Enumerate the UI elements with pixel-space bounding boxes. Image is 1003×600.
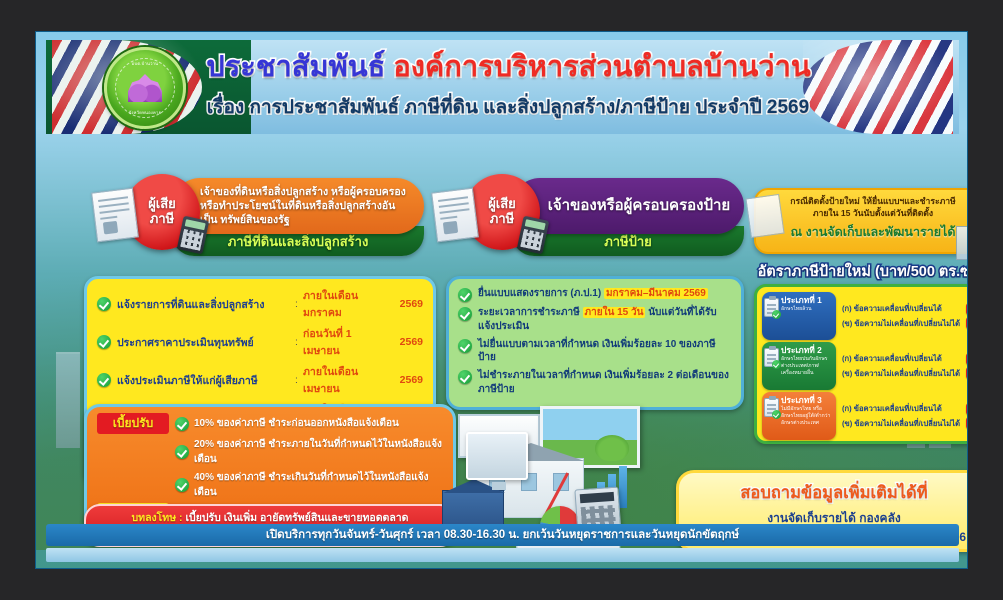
computer-monitor-icon [466,432,528,480]
check-icon [97,297,111,311]
legal-tag: บทลงโทษ : [132,512,183,524]
rate-category-name: ประเภทที่ 2 [781,345,833,355]
taxpayer-land-pill: เจ้าของที่ดินหรือสิ่งปลูกสร้าง หรือผู้คร… [172,178,424,234]
clipboard-check-icon [764,348,779,367]
land-schedule-when: ภายในเดือน มกราคม [303,287,389,321]
penalty-text: 40% ของค่าภาษี ชำระเกินวันที่กำหนดไว้ในห… [194,470,443,500]
new-sign-notice-line1: กรณีติดตั้งป้ายใหม่ ให้ยื่นแบบฯและชำระภา… [764,195,968,207]
rate-category-description: อักษรไทยล้วน [781,306,833,313]
check-icon [175,417,189,431]
sign-rule-row: ไม่ชำระภายในเวลาที่กำหนด เงินเพิ่มร้อยละ… [458,369,732,397]
rate-category: ประเภทที่ 2อักษรไทยปนกับอักษรต่างประเทศ/… [762,342,836,390]
rate-category-name: ประเภทที่ 3 [781,395,833,405]
penalty-text: 20% ของค่าภาษี ชำระภายในวันที่กำหนดไว้ใน… [194,437,443,467]
penalty-tag-spacer [97,451,169,453]
penalty-row: เบี้ยปรับ10% ของค่าภาษี ชำระก่อนออกหนังส… [97,413,443,434]
land-tax-schedule-row: แจ้งรายการที่ดินและสิ่งปลูกสร้าง:ภายในเด… [97,287,423,321]
footer-bottom-strip [46,548,959,562]
sign-rule-highlight: ภายใน 15 วัน [583,307,646,318]
land-schedule-label: แจ้งรายการที่ดินและสิ่งปลูกสร้าง [117,296,295,313]
rate-rows: (ก) ข้อความเคลื่อนที่/เปลี่ยนได้(ข) ข้อค… [836,392,966,440]
land-tax-schedule-row: ประกาศราคาประเมินทุนทรัพย์:ก่อนวันที่ 1 … [97,325,423,359]
sign-rule-row: ไม่ยื่นแบบตามเวลาที่กำหนด เงินเพิ่มร้อยล… [458,338,732,366]
land-schedule-colon: : [295,374,303,386]
rate-row: (ข) ข้อความไม่เคลื่อนที่/เปลี่ยนไม่ได้ [842,368,966,380]
rate-category: ประเภทที่ 3ไม่มีอักษรไทย หรืออักษรไทยอยู… [762,392,836,440]
page-subtitle: เรื่อง การประชาสัมพันธ์ ภาษีที่ดิน และสิ… [172,92,844,122]
rate-values: 105 [966,292,968,340]
rate-row: (ก) ข้อความเคลื่อนที่/เปลี่ยนได้ [842,303,966,315]
title-part2: องค์การบริหารส่วนตำบลบ้านว่าน [393,51,810,83]
land-schedule-year: 2569 [389,336,423,348]
rate-value-badge: 5 [966,317,968,329]
rate-group: ประเภทที่ 1อักษรไทยล้วน(ก) ข้อความเคลื่อ… [762,292,968,340]
sign-rule-text: ยื่นแบบแสดงรายการ (ภ.ป.1) มกราคม–มีนาคม … [478,287,708,301]
penalty-tag-spacer [97,484,169,486]
new-sign-notice-line2: ภายใน 15 วันนับตั้งแต่วันที่ติดตั้ง [764,207,968,219]
rate-group: ประเภทที่ 3ไม่มีอักษรไทย หรืออักษรไทยอยู… [762,392,968,440]
sign-rule-pre: ยื่นแบบแสดงรายการ (ภ.ป.1) [478,288,604,299]
rate-group: ประเภทที่ 2อักษรไทยปนกับอักษรต่างประเทศ/… [762,342,968,390]
title-part1: ประชาสัมพันธ์ [206,51,393,83]
rate-row: (ก) ข้อความเคลื่อนที่/เปลี่ยนได้ [842,403,966,415]
contact-heading: สอบถามข้อมูลเพิ่มเติมได้ที่ [687,480,968,506]
land-schedule-when: ภายในเดือน เมษายน [303,363,389,397]
sign-rule-highlight: มกราคม–มีนาคม 2569 [604,288,708,299]
rate-rows: (ก) ข้อความเคลื่อนที่/เปลี่ยนได้(ข) ข้อค… [836,292,966,340]
rate-row-text: (ข) ข้อความไม่เคลื่อนที่/เปลี่ยนไม่ได้ [842,318,966,330]
legal-text1: เบี้ยปรับ เงินเพิ่ม อายัดทรัพย์สินและขาย… [185,512,408,524]
check-icon [458,370,472,384]
penalty-text: 10% ของค่าภาษี ชำระก่อนออกหนังสือแจ้งเตื… [194,416,399,431]
poster-header: อบต.บ้านว่าน จังหวัดหนองคาย ประชาสัมพันธ… [46,40,959,134]
rate-category-description: อักษรไทยปนกับอักษรต่างประเทศ/ภาพ/เครื่อง… [781,356,833,376]
rate-value-badge: 52 [966,403,968,415]
land-schedule-year: 2569 [389,298,423,310]
check-icon [458,307,472,321]
sign-tax-rules-card: ยื่นแบบแสดงรายการ (ภ.ป.1) มกราคม–มีนาคม … [446,276,744,410]
rate-values: 5226 [966,342,968,390]
penalty-row: 40% ของค่าภาษี ชำระเกินวันที่กำหนดไว้ในห… [97,470,443,500]
taxpayer-sign-band-label: ภาษีป้าย [604,231,652,252]
sign-rule-row: ระยะเวลาการชำระภาษี ภายใน 15 วัน นับแต่ว… [458,306,732,334]
taxpayer-land-badge-line1: ผู้เสีย [148,197,176,212]
check-icon [175,478,189,492]
check-icon [458,288,472,302]
monitor-chart-icon [956,226,968,260]
rate-table-title: อัตราภาษีป้ายใหม่ (บาท/500 ตร.ซม.) [752,260,968,283]
land-schedule-when: ก่อนวันที่ 1 เมษายน [303,325,389,359]
rate-category: ประเภทที่ 1อักษรไทยล้วน [762,292,836,340]
land-tax-schedule-row: แจ้งประเมินภาษีให้แก่ผู้เสียภาษี:ภายในเด… [97,363,423,397]
sign-tax-rules-list: ยื่นแบบแสดงรายการ (ภ.ป.1) มกราคม–มีนาคม … [458,287,732,397]
taxpayer-land-badge-line2: ภาษี [150,212,174,227]
rate-value-badge: 52 [966,353,968,365]
rate-table: ประเภทที่ 1อักษรไทยล้วน(ก) ข้อความเคลื่อ… [754,284,968,444]
rate-row-text: (ก) ข้อความเคลื่อนที่/เปลี่ยนได้ [842,403,966,415]
seal-top-text: อบต.บ้านว่าน [107,62,183,66]
rate-row-text: (ก) ข้อความเคลื่อนที่/เปลี่ยนได้ [842,353,966,365]
rate-row-text: (ข) ข้อความไม่เคลื่อนที่/เปลี่ยนไม่ได้ [842,418,966,430]
document-icon [91,188,139,243]
land-schedule-label: แจ้งประเมินภาษีให้แก่ผู้เสียภาษี [117,372,295,389]
sign-rule-text: ระยะเวลาการชำระภาษี ภายใน 15 วัน นับแต่ว… [478,306,732,334]
rate-row: (ข) ข้อความไม่เคลื่อนที่/เปลี่ยนไม่ได้ [842,318,966,330]
land-schedule-colon: : [295,336,303,348]
footer-hours-text: เปิดบริการทุกวันจันทร์-วันศุกร์ เวลา 08.… [266,526,739,544]
check-icon [458,339,472,353]
footer-hours-strip: เปิดบริการทุกวันจันทร์-วันศุกร์ เวลา 08.… [46,524,959,546]
rate-values: 5250 [966,392,968,440]
sign-rule-pre: ไม่ชำระภายในเวลาที่กำหนด เงินเพิ่มร้อยละ… [478,370,729,395]
rate-value-badge: 50 [966,417,968,429]
land-schedule-colon: : [295,298,303,310]
document-icon [431,188,479,243]
penalty-fine-tag: เบี้ยปรับ [97,413,169,434]
penalty-row: 20% ของค่าภาษี ชำระภายในวันที่กำหนดไว้ใน… [97,437,443,467]
form-document-icon [745,194,784,238]
new-sign-notice-card: กรณีติดตั้งป้ายใหม่ ให้ยื่นแบบฯและชำระภา… [754,188,968,254]
land-schedule-label: ประกาศราคาประเมินทุนทรัพย์ [117,334,295,351]
check-icon [175,445,189,459]
rate-row: (ข) ข้อความไม่เคลื่อนที่/เปลี่ยนไม่ได้ [842,418,966,430]
taxpayer-land-description: เจ้าของที่ดินหรือสิ่งปลูกสร้าง หรือผู้คร… [200,185,412,228]
land-schedule-year: 2569 [389,374,423,386]
sign-rule-row: ยื่นแบบแสดงรายการ (ภ.ป.1) มกราคม–มีนาคม … [458,287,732,302]
rate-table-groups: ประเภทที่ 1อักษรไทยล้วน(ก) ข้อความเคลื่อ… [762,292,968,440]
rate-row-text: (ก) ข้อความเคลื่อนที่/เปลี่ยนได้ [842,303,966,315]
taxpayer-land-band-label: ภาษีที่ดินและสิ่งปลูกสร้าง [228,231,369,252]
rate-category-name: ประเภทที่ 1 [781,295,833,305]
check-icon [97,373,111,387]
check-icon [97,335,111,349]
new-sign-notice-office: ณ งานจัดเก็บและพัฒนารายได้ [764,222,968,242]
taxpayer-sign-badge-line2: ภาษี [490,212,514,227]
rate-row: (ก) ข้อความเคลื่อนที่/เปลี่ยนได้ [842,353,966,365]
clipboard-check-icon [764,398,779,417]
taxpayer-sign-description: เจ้าของหรือผู้ครอบครองป้าย [540,196,732,216]
rate-rows: (ก) ข้อความเคลื่อนที่/เปลี่ยนได้(ข) ข้อค… [836,342,966,390]
taxpayer-sign-badge-line1: ผู้เสีย [488,197,516,212]
rate-value-badge: 26 [966,367,968,379]
sign-rule-pre: ระยะเวลาการชำระภาษี [478,307,583,318]
rate-row-text: (ข) ข้อความไม่เคลื่อนที่/เปลี่ยนไม่ได้ [842,368,966,380]
sign-rule-pre: ไม่ยื่นแบบตามเวลาที่กำหนด เงินเพิ่มร้อยล… [478,339,716,364]
poster-canvas: อบต.บ้านว่าน จังหวัดหนองคาย ประชาสัมพันธ… [35,31,968,569]
rate-value-badge: 10 [966,303,968,315]
page-title: ประชาสัมพันธ์ องค์การบริหารส่วนตำบลบ้านว… [196,52,821,82]
sign-rule-text: ไม่ยื่นแบบตามเวลาที่กำหนด เงินเพิ่มร้อยล… [478,338,732,366]
rate-category-description: ไม่มีอักษรไทย หรืออักษรไทยอยู่ใต้/ต่ำกว่… [781,406,833,426]
sign-rule-text: ไม่ชำระภายในเวลาที่กำหนด เงินเพิ่มร้อยละ… [478,369,732,397]
clipboard-check-icon [764,298,779,317]
